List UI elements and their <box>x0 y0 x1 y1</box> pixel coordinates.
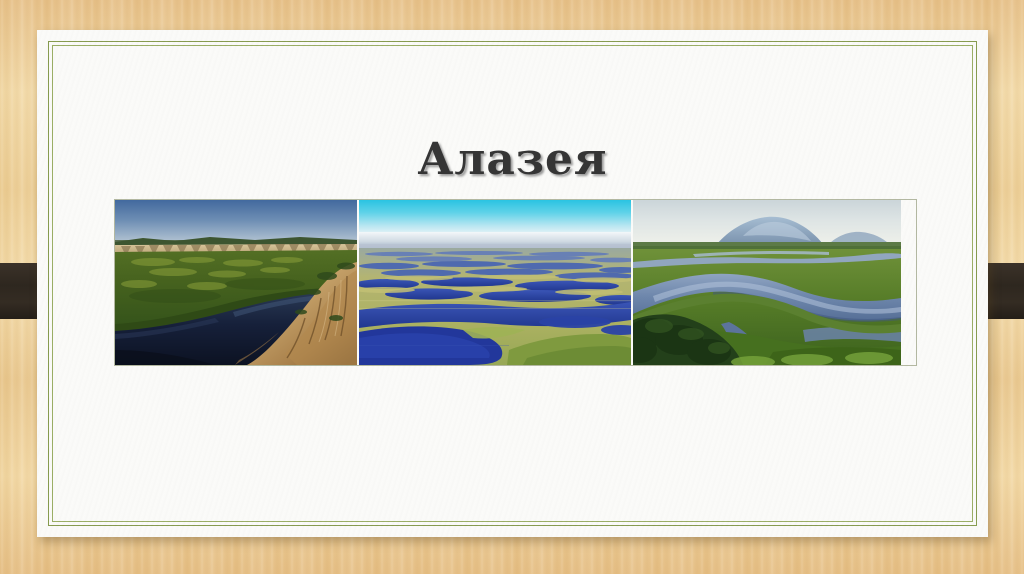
gallery-photo-tundra-lakes[interactable] <box>359 200 631 365</box>
presentation-slide: Алазея <box>0 0 1024 574</box>
photo-1-artwork <box>115 200 357 365</box>
slide-card: Алазея <box>37 30 988 537</box>
photo-gallery <box>115 200 916 365</box>
gallery-photo-river-cliffs[interactable] <box>115 200 357 365</box>
photo-3-artwork <box>633 200 901 365</box>
photo-2-artwork <box>359 200 631 365</box>
page-title: Алазея <box>37 134 988 185</box>
gallery-photo-meandering-river[interactable] <box>633 200 901 365</box>
